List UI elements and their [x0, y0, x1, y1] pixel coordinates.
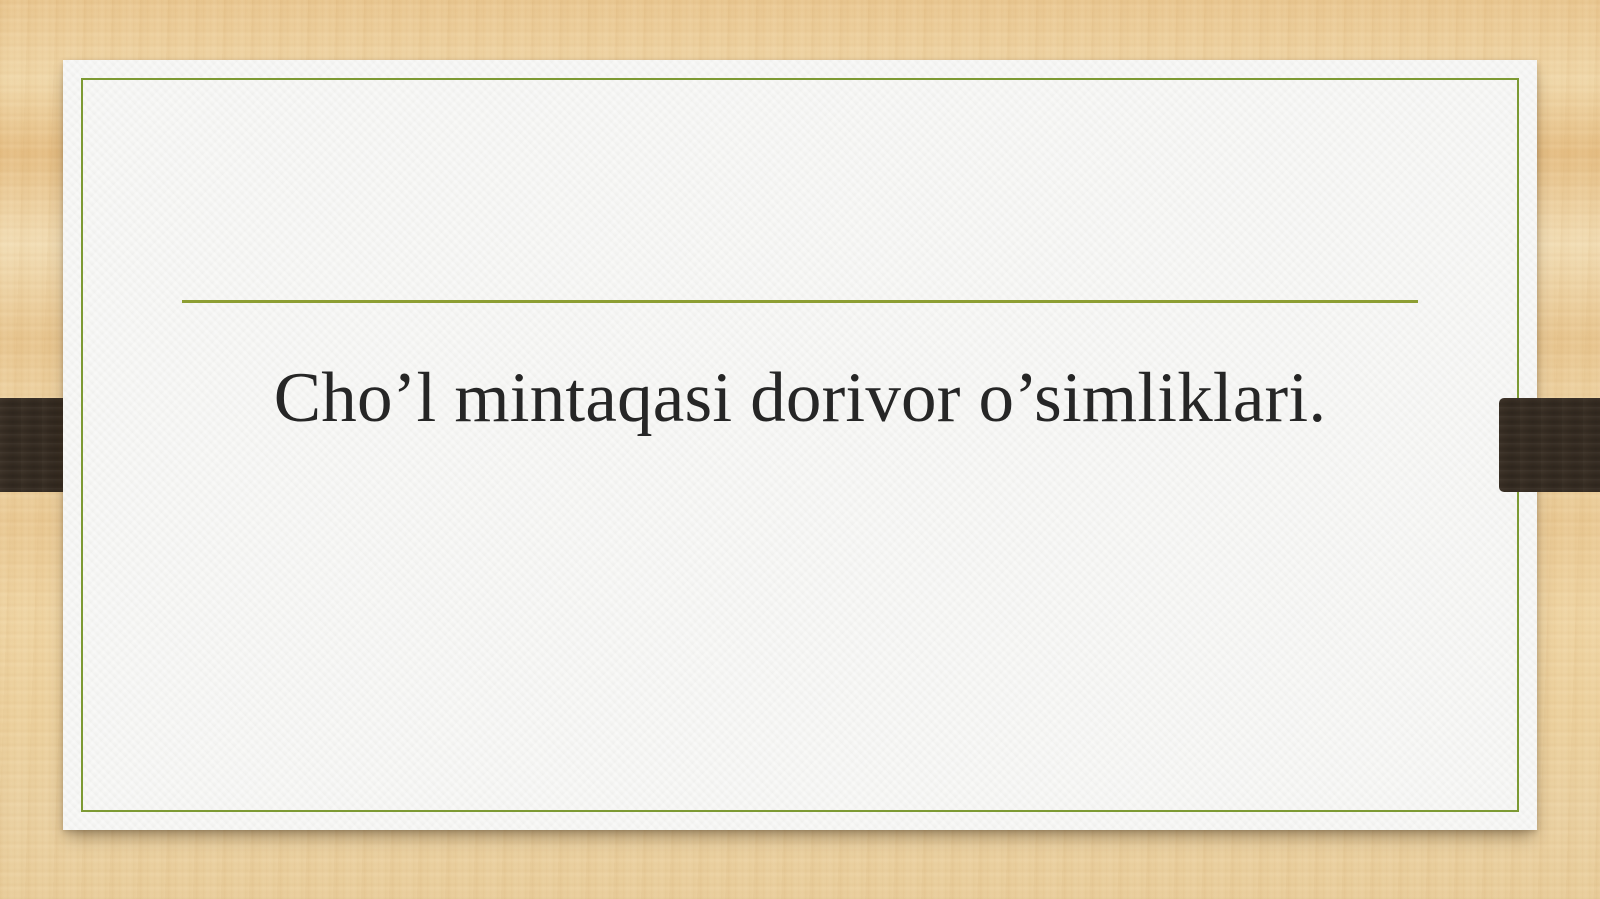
title-divider-rule — [182, 300, 1418, 303]
slide-title: Cho’l mintaqasi dorivor o’simliklari. — [182, 357, 1418, 440]
presentation-slide: Cho’l mintaqasi dorivor o’simliklari. — [0, 0, 1600, 899]
card-inner-border — [81, 78, 1519, 812]
title-block: Cho’l mintaqasi dorivor o’simliklari. — [182, 300, 1418, 440]
slide-content-card — [63, 60, 1537, 830]
accent-bar-right — [1499, 398, 1600, 492]
